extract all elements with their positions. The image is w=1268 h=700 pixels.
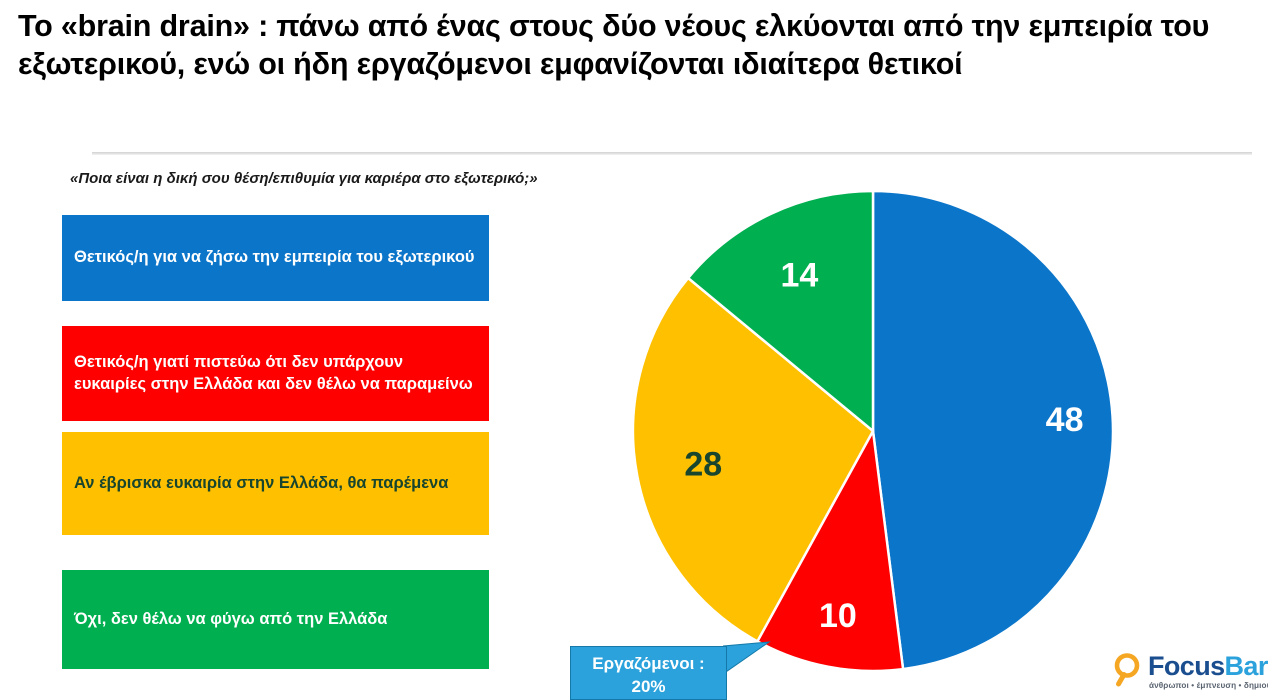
pie-slice-value-label: 14 (780, 257, 818, 295)
legend-item-would-stay[interactable]: Αν έβρισκα ευκαιρία στην Ελλάδα, θα παρέ… (62, 432, 489, 535)
pie-chart: 48102814 (632, 190, 1114, 672)
legend-item-no-opportunities[interactable]: Θετικός/η γιατί πιστεύω ότι δεν υπάρχουν… (62, 326, 489, 421)
slide-root: Το «brain drain» : πάνω από ένας στους δ… (0, 0, 1268, 700)
page-title: Το «brain drain» : πάνω από ένας στους δ… (18, 8, 1258, 83)
legend-item-label: Θετικός/η γιατί πιστεύω ότι δεν υπάρχουν… (74, 352, 477, 396)
logo-word-bari: Bari (1225, 651, 1268, 681)
legend-item-not-leaving[interactable]: Όχι, δεν θέλω να φύγω από την Ελλάδα (62, 570, 489, 669)
logo-tagline: άνθρωποι • έμπνευση • δημιουργία (1149, 681, 1268, 690)
magnifier-icon (1112, 652, 1148, 688)
legend-item-label: Όχι, δεν θέλω να φύγω από την Ελλάδα (74, 609, 387, 631)
legend-item-positive-experience[interactable]: Θετικός/η για να ζήσω την εμπειρία του ε… (62, 215, 489, 301)
callout-employed-share: Εργαζόμενοι : 20% (570, 646, 727, 700)
header-divider (92, 152, 1252, 155)
callout-line-2: 20% (571, 675, 726, 698)
legend-item-label: Θετικός/η για να ζήσω την εμπειρία του ε… (74, 247, 475, 269)
chart-question-subtitle: «Ποια είναι η δική σου θέση/επιθυμία για… (70, 170, 538, 187)
pie-slice-value-label: 28 (684, 445, 722, 483)
logo-wordmark: FocusBari (1148, 651, 1268, 682)
logo-word-focus: Focus (1148, 651, 1225, 681)
pie-slice-value-label: 10 (819, 597, 857, 635)
pie-chart-svg: 48102814 (632, 190, 1114, 672)
legend-item-label: Αν έβρισκα ευκαιρία στην Ελλάδα, θα παρέ… (74, 473, 448, 495)
callout-line-1: Εργαζόμενοι : (571, 652, 726, 675)
callout-pointer-icon (723, 640, 783, 680)
pie-slice-group (633, 191, 1113, 671)
pie-slice-value-label: 48 (1046, 401, 1084, 439)
focusbari-logo: FocusBari άνθρωποι • έμπνευση • δημιουργ… (1112, 650, 1264, 696)
